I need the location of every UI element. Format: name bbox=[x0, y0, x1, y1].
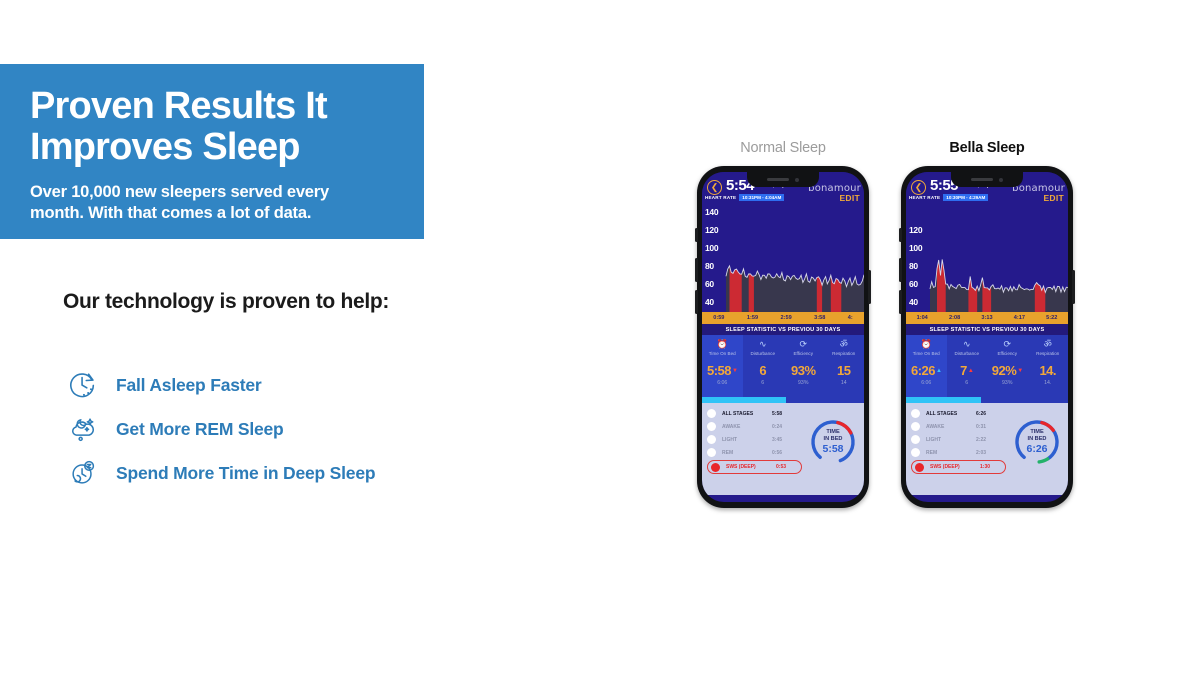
waveform-icon: ∿ bbox=[947, 339, 988, 350]
volume-up-button[interactable] bbox=[899, 258, 902, 282]
chart-y-axis: 120100806040 bbox=[908, 204, 930, 312]
stat-grid: ⏰Time On Bed6:26▲6:06∿Disturbance7▲6⟳Eff… bbox=[906, 335, 1068, 397]
heart-rate-label: HEART RATE bbox=[705, 195, 736, 200]
stat-cell[interactable]: ॐRespiration14.14. bbox=[1028, 335, 1069, 397]
headline-banner: Proven Results It Improves Sleep Over 10… bbox=[0, 64, 424, 239]
phone-screen: ❮ 5:55 Thu, Sep 23 bonamour sleep compan… bbox=[906, 172, 1068, 502]
stat-banner: SLEEP STATISTIC VS PREVIOU 30 DAYS bbox=[702, 324, 864, 335]
stage-dot-icon bbox=[911, 448, 920, 457]
stage-dot-icon bbox=[707, 448, 716, 457]
stage-dot-icon bbox=[911, 409, 920, 418]
stage-name: ALL STAGES bbox=[722, 411, 772, 417]
stage-row[interactable]: SWS (DEEP)1:30 bbox=[911, 460, 1006, 474]
heart-rate-area bbox=[726, 266, 864, 312]
chart-y-tick: 100 bbox=[909, 243, 922, 253]
banner-title-line1: Proven Results It bbox=[30, 86, 398, 127]
phone-frame: ❮ 5:55 Thu, Sep 23 bonamour sleep compan… bbox=[901, 166, 1073, 508]
stage-name: AWAKE bbox=[926, 424, 976, 430]
chart-x-tick: 0:59 bbox=[713, 315, 724, 321]
phone-screen: ❮ 5:54 Tue, Sep 21 bonamour sleep compan… bbox=[702, 172, 864, 502]
chart-x-axis: 0:591:592:593:584: bbox=[702, 312, 864, 324]
lungs-icon: ॐ bbox=[1028, 339, 1069, 350]
stage-duration: 0:31 bbox=[976, 424, 986, 430]
chevron-left-icon[interactable]: ❮ bbox=[911, 180, 926, 195]
silence-switch[interactable] bbox=[899, 228, 902, 242]
stage-duration: 0:53 bbox=[776, 464, 786, 470]
chart-x-axis: 1:042:083:134:175:22 bbox=[906, 312, 1068, 324]
chart-x-tick: 4: bbox=[848, 315, 853, 321]
donut-label-line2: IN BED bbox=[1028, 436, 1047, 443]
edit-button[interactable]: EDIT bbox=[1043, 193, 1064, 203]
stage-dot-icon bbox=[911, 435, 920, 444]
stage-row[interactable]: SWS (DEEP)0:53 bbox=[707, 460, 802, 474]
chart-x-tick: 1:04 bbox=[917, 315, 928, 321]
arrow-up-icon: ▲ bbox=[936, 368, 941, 374]
stat-value: 15 bbox=[824, 363, 865, 378]
chart-y-tick: 60 bbox=[705, 279, 714, 289]
stage-name: AWAKE bbox=[722, 424, 772, 430]
stage-duration: 5:58 bbox=[772, 411, 782, 417]
stat-value: 6 bbox=[743, 363, 784, 378]
feature-label: Get More REM Sleep bbox=[116, 419, 284, 440]
stage-name: LIGHT bbox=[722, 437, 772, 443]
notch bbox=[747, 172, 819, 187]
alarm-clock-icon: ⏰ bbox=[702, 339, 743, 350]
volume-up-button[interactable] bbox=[695, 258, 698, 282]
stage-dot-icon bbox=[707, 409, 716, 418]
alarm-clock-icon: ⏰ bbox=[906, 339, 947, 350]
stat-name: Disturbance bbox=[947, 351, 988, 356]
stat-cell[interactable]: ⟳Efficiency93%93% bbox=[783, 335, 824, 397]
heart-rate-plot bbox=[702, 204, 864, 312]
donut-text: TIME IN BED 5:58 bbox=[806, 415, 860, 469]
efficiency-icon: ⟳ bbox=[783, 339, 824, 350]
stage-name: LIGHT bbox=[926, 437, 976, 443]
chart-x-tick: 5:22 bbox=[1046, 315, 1057, 321]
power-button[interactable] bbox=[1072, 270, 1075, 304]
stat-cell[interactable]: ⏰Time On Bed6:26▲6:06 bbox=[906, 335, 947, 397]
stat-name: Efficiency bbox=[783, 351, 824, 356]
chart-y-tick: 140 bbox=[705, 207, 718, 217]
heart-rate-plot bbox=[906, 204, 1068, 312]
silence-switch[interactable] bbox=[695, 228, 698, 242]
stat-previous-value: 93% bbox=[987, 380, 1028, 386]
earpiece-speaker bbox=[767, 178, 789, 181]
donut-value: 5:58 bbox=[822, 443, 843, 455]
donut-label-line1: TIME bbox=[826, 429, 839, 436]
feature-label: Spend More Time in Deep Sleep bbox=[116, 463, 375, 484]
heart-rate-alert-segment bbox=[749, 274, 754, 312]
stat-value: 7▲ bbox=[947, 363, 988, 378]
stage-dot-icon bbox=[707, 422, 716, 431]
phone-mockups: Normal Sleep ❮ 5:54 Tue, Sep 21 bbox=[690, 140, 1090, 540]
notch bbox=[951, 172, 1023, 187]
donut-value: 6:26 bbox=[1026, 443, 1047, 455]
chart-y-tick: 60 bbox=[909, 279, 918, 289]
chevron-left-icon[interactable]: ❮ bbox=[707, 180, 722, 195]
stage-name: SWS (DEEP) bbox=[726, 464, 776, 470]
stage-duration: 2:22 bbox=[976, 437, 986, 443]
stage-duration: 3:45 bbox=[772, 437, 782, 443]
earpiece-speaker bbox=[971, 178, 993, 181]
efficiency-icon: ⟳ bbox=[987, 339, 1028, 350]
phone-bella-sleep: Bella Sleep ❮ 5:55 Thu, Sep 23 bbox=[898, 140, 1076, 508]
arrow-down-icon: ▼ bbox=[1017, 368, 1022, 374]
phone-frame: ❮ 5:54 Tue, Sep 21 bonamour sleep compan… bbox=[697, 166, 869, 508]
stat-previous-value: 93% bbox=[783, 380, 824, 386]
stage-duration: 0:56 bbox=[772, 450, 782, 456]
waveform-icon: ∿ bbox=[743, 339, 784, 350]
stat-name: Respiration bbox=[824, 351, 865, 356]
stage-dot-icon bbox=[911, 422, 920, 431]
banner-title-line2: Improves Sleep bbox=[30, 127, 398, 168]
feature-list: Fall Asleep Faster Get More REM Sleep bbox=[60, 363, 480, 495]
phone-caption: Bella Sleep bbox=[898, 140, 1076, 166]
heart-rate-badge: HEART RATE 10:30PM - 4:29AM bbox=[909, 194, 988, 201]
volume-down-button[interactable] bbox=[695, 290, 698, 314]
chart-x-tick: 4:17 bbox=[1014, 315, 1025, 321]
volume-down-button[interactable] bbox=[899, 290, 902, 314]
stat-value: 5:58▼ bbox=[702, 363, 743, 378]
stat-previous-value: 6 bbox=[947, 380, 988, 386]
home-indicator-area bbox=[702, 483, 864, 495]
stage-duration: 0:24 bbox=[772, 424, 782, 430]
stat-previous-value: 14 bbox=[824, 380, 865, 386]
time-in-bed-donut: TIME IN BED 6:26 bbox=[1010, 415, 1064, 469]
stage-duration: 2:03 bbox=[976, 450, 986, 456]
stat-previous-value: 14. bbox=[1028, 380, 1069, 386]
stat-name: Disturbance bbox=[743, 351, 784, 356]
chart-y-tick: 40 bbox=[909, 297, 918, 307]
stage-duration: 6:26 bbox=[976, 411, 986, 417]
donut-text: TIME IN BED 6:26 bbox=[1010, 415, 1064, 469]
chart-x-tick: 3:13 bbox=[981, 315, 992, 321]
chart-y-tick: 80 bbox=[909, 261, 918, 271]
stage-duration: 1:30 bbox=[980, 464, 990, 470]
stat-name: Time On Bed bbox=[702, 351, 743, 356]
stat-value: 92%▼ bbox=[987, 363, 1028, 378]
sleep-stage-list: ALL STAGES5:58AWAKE0:24LIGHT3:45REM0:56S… bbox=[702, 403, 864, 483]
stat-banner: SLEEP STATISTIC VS PREVIOU 30 DAYS bbox=[906, 324, 1068, 335]
slide-root: Proven Results It Improves Sleep Over 10… bbox=[0, 0, 1200, 675]
chart-y-axis: 140120100806040 bbox=[704, 204, 726, 312]
stage-name: REM bbox=[926, 450, 976, 456]
stat-cell[interactable]: ∿Disturbance66 bbox=[743, 335, 784, 397]
stage-dot-icon bbox=[711, 463, 720, 472]
power-button[interactable] bbox=[868, 270, 871, 304]
arrow-up-icon: ▲ bbox=[968, 368, 973, 374]
banner-title: Proven Results It Improves Sleep bbox=[30, 86, 398, 168]
chart-x-tick: 3:58 bbox=[814, 315, 825, 321]
feature-item-deep-sleep: Spend More Time in Deep Sleep bbox=[60, 451, 480, 495]
moon-cloud-stars-icon bbox=[60, 410, 106, 448]
heart-rate-badge: HEART RATE 10:31PM - 4:04AM bbox=[705, 194, 784, 201]
stat-previous-value: 6:06 bbox=[702, 380, 743, 386]
stage-name: REM bbox=[722, 450, 772, 456]
clock-arrow-icon bbox=[60, 366, 106, 404]
chart-y-tick: 120 bbox=[705, 225, 718, 235]
donut-label-line2: IN BED bbox=[824, 436, 843, 443]
lungs-icon: ॐ bbox=[824, 339, 865, 350]
heart-rate-chart: 140120100806040 bbox=[702, 204, 864, 312]
stat-value: 6:26▲ bbox=[906, 363, 947, 378]
edit-button[interactable]: EDIT bbox=[839, 193, 860, 203]
feature-item-fall-asleep-faster: Fall Asleep Faster bbox=[60, 363, 480, 407]
clock-zzz-icon bbox=[60, 454, 106, 492]
chart-x-tick: 2:59 bbox=[781, 315, 792, 321]
chart-y-tick: 120 bbox=[909, 225, 922, 235]
chart-y-tick: 80 bbox=[705, 261, 714, 271]
stat-cell[interactable]: ॐRespiration1514 bbox=[824, 335, 865, 397]
stat-value: 14. bbox=[1028, 363, 1069, 378]
stat-name: Time On Bed bbox=[906, 351, 947, 356]
heart-rate-range: 10:31PM - 4:04AM bbox=[739, 194, 784, 201]
stat-cell[interactable]: ⏰Time On Bed5:58▼6:06 bbox=[702, 335, 743, 397]
stat-previous-value: 6:06 bbox=[906, 380, 947, 386]
front-camera-icon bbox=[795, 178, 799, 182]
home-indicator-area bbox=[906, 483, 1068, 495]
chart-y-tick: 40 bbox=[705, 297, 714, 307]
time-in-bed-donut: TIME IN BED 5:58 bbox=[806, 415, 860, 469]
chart-x-tick: 2:08 bbox=[949, 315, 960, 321]
stage-dot-icon bbox=[915, 463, 924, 472]
feature-item-get-more-rem-sleep: Get More REM Sleep bbox=[60, 407, 480, 451]
sleep-stage-list: ALL STAGES6:26AWAKE0:31LIGHT2:22REM2:03S… bbox=[906, 403, 1068, 483]
heart-rate-chart: 120100806040 bbox=[906, 204, 1068, 312]
stage-name: SWS (DEEP) bbox=[930, 464, 980, 470]
arrow-down-icon: ▼ bbox=[732, 368, 737, 374]
banner-subtitle: Over 10,000 new sleepers served every mo… bbox=[30, 182, 398, 224]
heart-rate-range: 10:30PM - 4:29AM bbox=[943, 194, 988, 201]
heart-rate-label: HEART RATE bbox=[909, 195, 940, 200]
phone-caption: Normal Sleep bbox=[694, 140, 872, 166]
stat-cell[interactable]: ∿Disturbance7▲6 bbox=[947, 335, 988, 397]
stat-previous-value: 6 bbox=[743, 380, 784, 386]
stat-name: Respiration bbox=[1028, 351, 1069, 356]
stage-name: ALL STAGES bbox=[926, 411, 976, 417]
donut-label-line1: TIME bbox=[1030, 429, 1043, 436]
stat-value: 93% bbox=[783, 363, 824, 378]
stage-dot-icon bbox=[707, 435, 716, 444]
chart-x-tick: 1:59 bbox=[747, 315, 758, 321]
feature-label: Fall Asleep Faster bbox=[116, 375, 262, 396]
proven-heading: Our technology is proven to help: bbox=[63, 290, 389, 314]
phone-normal-sleep: Normal Sleep ❮ 5:54 Tue, Sep 21 bbox=[694, 140, 872, 508]
chart-y-tick: 100 bbox=[705, 243, 718, 253]
banner-subtitle-line2: month. With that comes a lot of data. bbox=[30, 203, 398, 224]
stat-grid: ⏰Time On Bed5:58▼6:06∿Disturbance66⟳Effi… bbox=[702, 335, 864, 397]
stat-name: Efficiency bbox=[987, 351, 1028, 356]
stat-cell[interactable]: ⟳Efficiency92%▼93% bbox=[987, 335, 1028, 397]
banner-subtitle-line1: Over 10,000 new sleepers served every bbox=[30, 182, 398, 203]
front-camera-icon bbox=[999, 178, 1003, 182]
